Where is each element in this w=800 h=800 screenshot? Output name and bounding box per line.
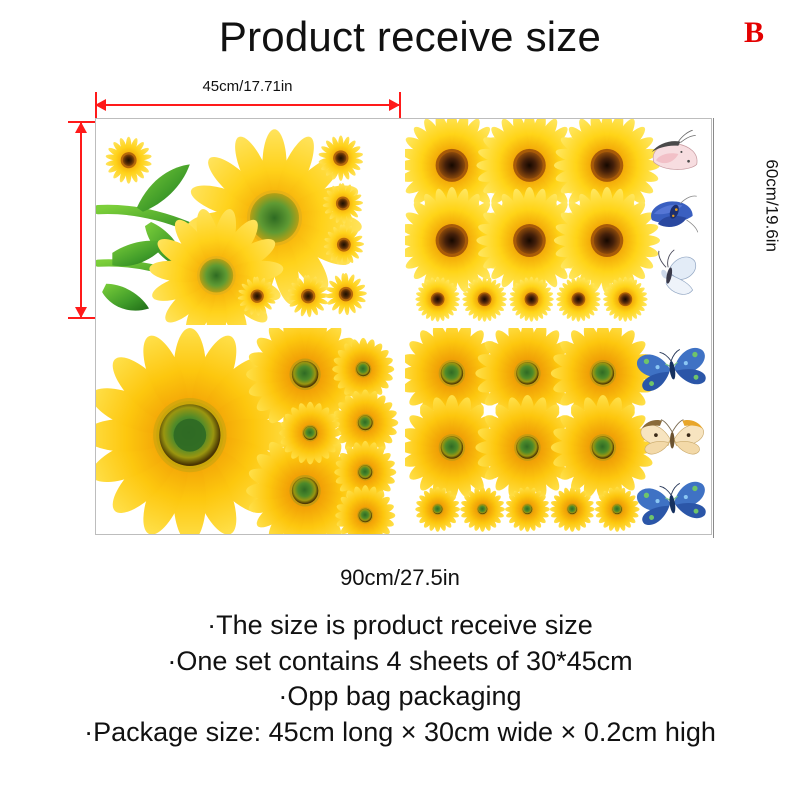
sheet-top-right[interactable] — [405, 119, 711, 325]
sheet-bottom-left[interactable] — [96, 328, 402, 534]
page-title: Product receive size — [0, 16, 800, 58]
note-line-2: ·One set contains 4 sheets of 30*45cm — [0, 644, 800, 680]
sheet-top-left[interactable] — [96, 119, 402, 325]
sticker-sheet-grid — [95, 118, 712, 535]
total-width-label: 90cm/27.5in — [0, 565, 800, 591]
variant-badge: B — [744, 18, 764, 48]
note-line-3: ·Opp bag packaging — [0, 679, 800, 715]
note-line-1: ·The size is product receive size — [0, 608, 800, 644]
total-height-label: 60cm/19.6in — [762, 159, 782, 252]
note-line-4: ·Package size: 45cm long × 30cm wide × 0… — [0, 715, 800, 751]
sheet-width-label: 45cm/17.71in — [95, 78, 400, 95]
product-size-infographic: Product receive size B 45cm/17.71in 30cm… — [0, 0, 800, 800]
sheet-height-arrow: 30cm/11.81in — [74, 122, 88, 318]
sheet-width-arrow — [95, 98, 400, 112]
product-notes: ·The size is product receive size ·One s… — [0, 608, 800, 751]
sheet-bottom-right[interactable] — [405, 328, 711, 534]
total-height-rule — [713, 118, 714, 538]
